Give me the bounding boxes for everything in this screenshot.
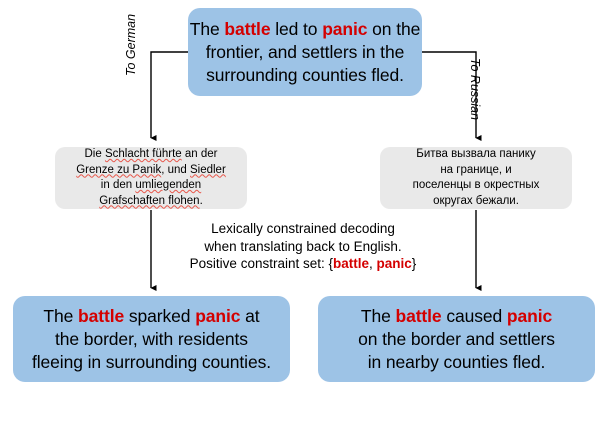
constraint-panic: panic xyxy=(377,256,412,271)
source-sentence-text: The battle led to panic on the frontier,… xyxy=(190,18,420,87)
german-l3a: in den xyxy=(101,179,136,191)
russian-translation-box: Битва вызвала панику на границе, и посел… xyxy=(380,147,572,209)
caption-line3-sep: , xyxy=(369,256,377,271)
output-left-text: The battle sparked panic at the border, … xyxy=(32,305,271,374)
source-line3: surrounding counties fled. xyxy=(206,65,404,85)
russian-l1: Битва вызвала панику xyxy=(416,148,535,160)
russian-l4: округах бежали. xyxy=(433,195,519,207)
keyword-panic: panic xyxy=(507,306,552,326)
edge-label-to-german: To German xyxy=(124,14,138,76)
source-line1-mid: led to xyxy=(270,19,322,39)
caption-line1: Lexically constrained decoding xyxy=(211,221,395,236)
outl-line1-post: at xyxy=(240,306,259,326)
german-l2c: Siedler xyxy=(190,164,226,176)
back-translation-from-german-box: The battle sparked panic at the border, … xyxy=(13,296,290,382)
german-l2a: Grenze zu Panik xyxy=(76,164,161,176)
constraint-battle: battle xyxy=(333,256,369,271)
keyword-battle: battle xyxy=(395,306,441,326)
outl-line1-pre: The xyxy=(43,306,78,326)
outl-line1-mid: sparked xyxy=(124,306,195,326)
russian-l2: на границе, и xyxy=(440,164,511,176)
diagram-canvas: The battle led to panic on the frontier,… xyxy=(0,0,606,422)
outl-line2: the border, with residents xyxy=(55,329,248,349)
caption-line3-pre: Positive constraint set: { xyxy=(190,256,333,271)
german-translation-box: Die Schlacht führte an der Grenze zu Pan… xyxy=(55,147,247,209)
german-l3b: umliegenden xyxy=(135,179,201,191)
german-l1b: Schlacht führte xyxy=(105,148,182,160)
outr-line1-pre: The xyxy=(361,306,396,326)
source-line1-pre: The xyxy=(190,19,225,39)
caption-line2: when translating back to English. xyxy=(204,239,401,254)
source-line2: frontier, and settlers in the xyxy=(206,42,404,62)
source-line1-post: on the xyxy=(367,19,420,39)
arrow-source-to-german xyxy=(151,52,188,138)
outl-line3: fleeing in surrounding counties. xyxy=(32,352,271,372)
edge-label-to-russian: To Russian xyxy=(468,58,482,120)
keyword-battle: battle xyxy=(78,306,124,326)
russian-translation-text: Битва вызвала панику на границе, и посел… xyxy=(413,147,540,209)
outr-line2: on the border and settlers xyxy=(358,329,555,349)
keyword-battle: battle xyxy=(224,19,270,39)
german-l1a: Die xyxy=(85,148,105,160)
german-l2b: , und xyxy=(161,164,190,176)
caption-line3-post: } xyxy=(412,256,417,271)
german-translation-text: Die Schlacht führte an der Grenze zu Pan… xyxy=(76,147,226,209)
output-right-text: The battle caused panic on the border an… xyxy=(358,305,555,374)
keyword-panic: panic xyxy=(195,306,240,326)
constrained-decoding-note: Lexically constrained decoding when tran… xyxy=(153,220,453,273)
german-l4a: Grafschaften flohen xyxy=(99,195,199,207)
russian-l3: поселенцы в окрестных xyxy=(413,179,540,191)
back-translation-from-russian-box: The battle caused panic on the border an… xyxy=(318,296,595,382)
outr-line3: in nearby counties fled. xyxy=(368,352,546,372)
german-l1c: an der xyxy=(182,148,218,160)
keyword-panic: panic xyxy=(322,19,367,39)
german-l4b: . xyxy=(200,195,203,207)
source-english-sentence-box: The battle led to panic on the frontier,… xyxy=(188,8,422,96)
outr-line1-mid: caused xyxy=(442,306,507,326)
